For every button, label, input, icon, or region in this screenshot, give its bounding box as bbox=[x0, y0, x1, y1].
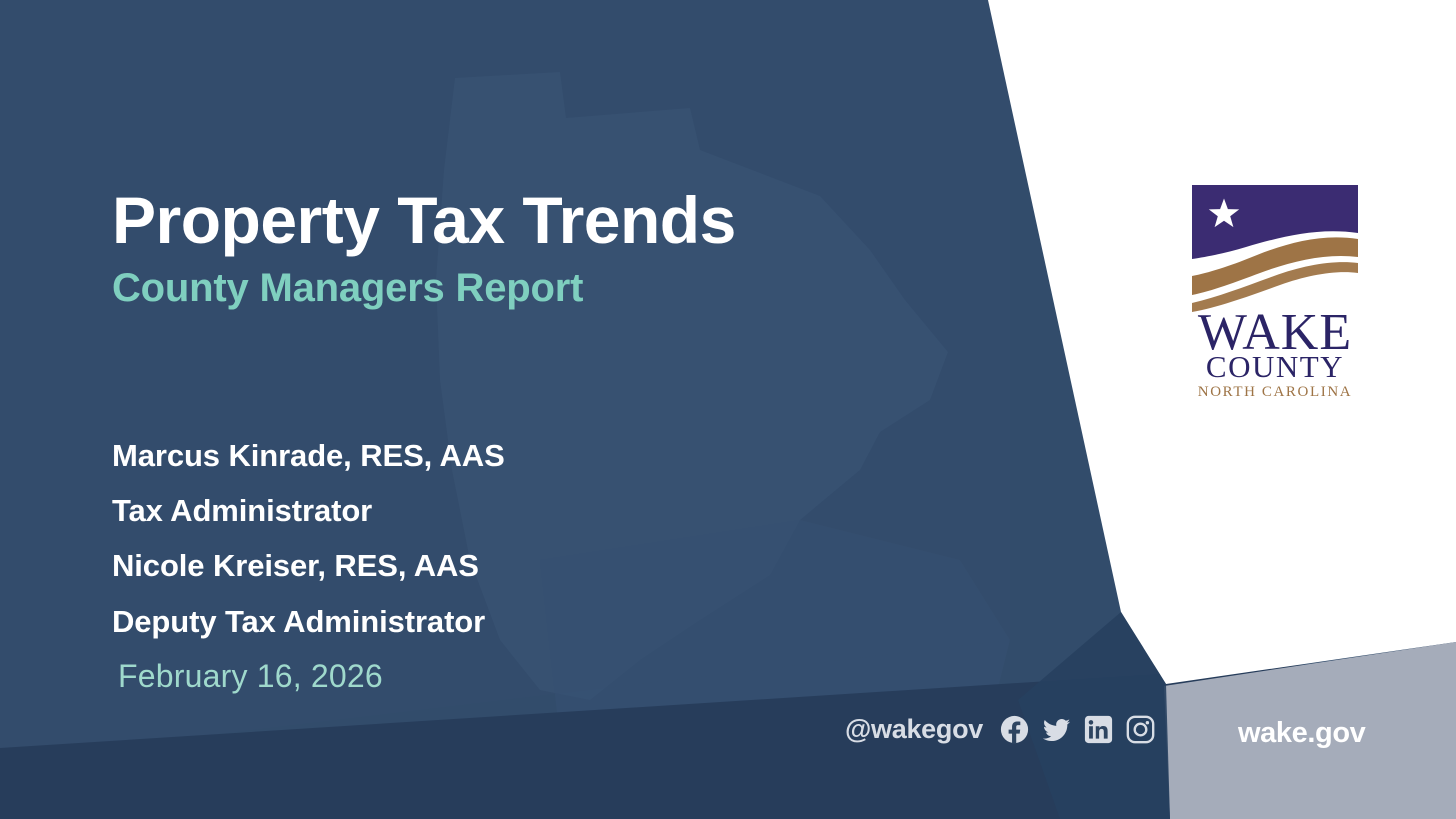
logo-text-county: COUNTY bbox=[1206, 349, 1344, 384]
presenter-name-1: Marcus Kinrade, RES, AAS bbox=[112, 428, 872, 483]
slide-background bbox=[0, 0, 1456, 819]
twitter-icon[interactable] bbox=[1042, 715, 1071, 744]
slide-subtitle: County Managers Report bbox=[112, 266, 972, 310]
linkedin-icon[interactable] bbox=[1084, 715, 1113, 744]
instagram-icon[interactable] bbox=[1126, 715, 1155, 744]
wake-county-logo: WAKE COUNTY NORTH CAROLINA bbox=[1188, 181, 1362, 400]
slide-date: February 16, 2026 bbox=[118, 659, 872, 694]
presentation-slide: Property Tax Trends County Managers Repo… bbox=[0, 0, 1456, 819]
logo-text-state: NORTH CAROLINA bbox=[1198, 384, 1352, 400]
presenter-role-2: Deputy Tax Administrator bbox=[112, 594, 872, 649]
facebook-icon[interactable] bbox=[1000, 715, 1029, 744]
presenter-role-1: Tax Administrator bbox=[112, 483, 872, 538]
website-url[interactable]: wake.gov bbox=[1238, 717, 1365, 750]
slide-title: Property Tax Trends bbox=[112, 186, 972, 256]
title-block: Property Tax Trends County Managers Repo… bbox=[112, 186, 972, 310]
presenter-name-2: Nicole Kreiser, RES, AAS bbox=[112, 538, 872, 593]
social-handle: @wakegov bbox=[845, 714, 983, 745]
presenter-block: Marcus Kinrade, RES, AAS Tax Administrat… bbox=[112, 428, 872, 694]
social-footer: @wakegov bbox=[845, 714, 1155, 745]
